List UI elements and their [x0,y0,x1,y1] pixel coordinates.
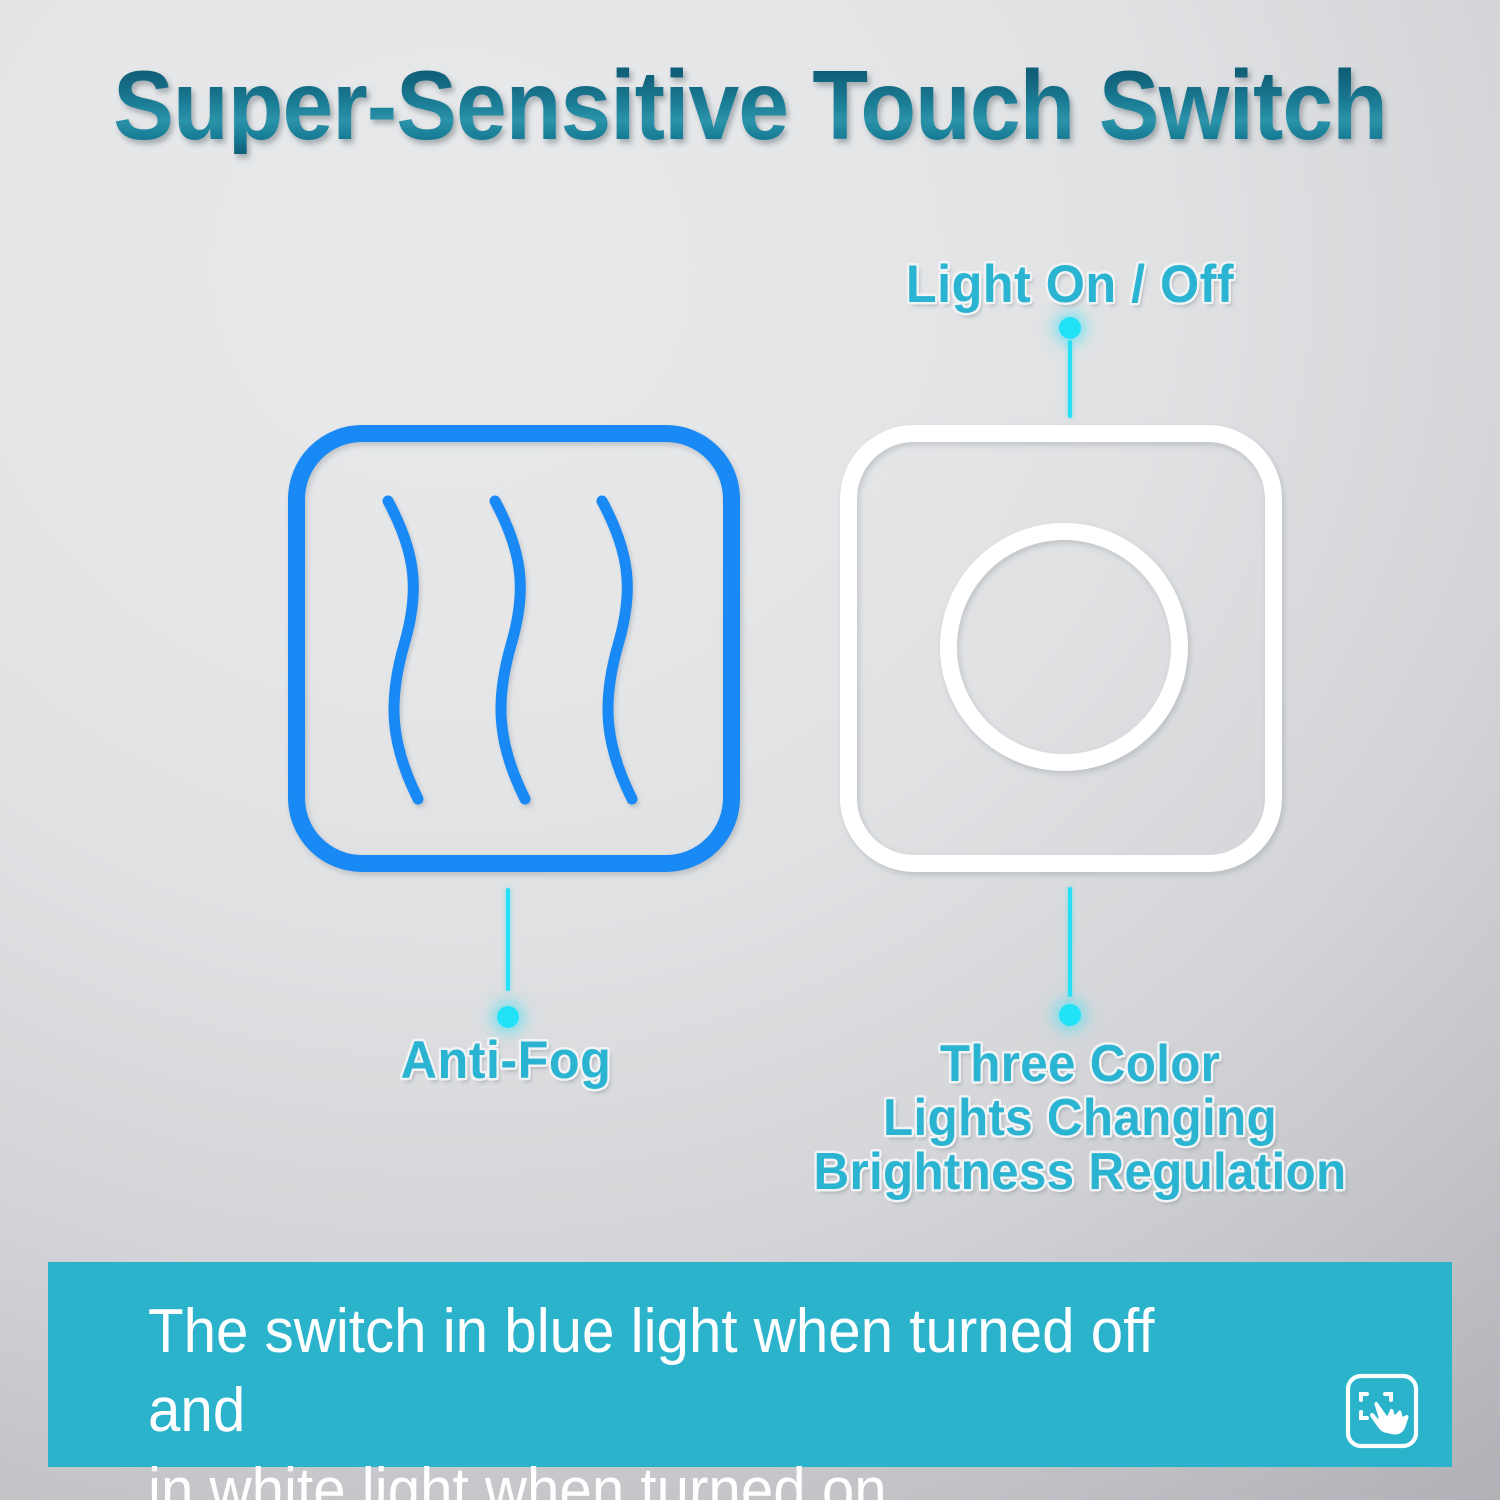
connector-dot-three-color [1059,1004,1081,1026]
banner-description-text: The switch in blue light when turned off… [148,1292,1229,1500]
page-title: Super-Sensitive Touch Switch [53,56,1448,154]
connector-line-three-color [1068,887,1072,997]
infographic-canvas: Super-Sensitive Touch Switch Light On / … [0,0,1500,1500]
connector-dot-anti-fog [497,1006,519,1028]
connector-dot-light-on-off [1059,317,1081,339]
callout-label-anti-fog: Anti-Fog [316,1034,696,1087]
callout-label-three-color: Three Color Lights Changing Brightness R… [786,1037,1375,1199]
bottom-banner: The switch in blue light when turned off… [48,1262,1452,1467]
connector-line-light-on-off [1068,340,1072,418]
touch-gesture-icon [1344,1373,1420,1449]
connector-line-anti-fog [506,888,510,991]
fog-waves-icon [370,495,650,805]
callout-label-light-on-off: Light On / Off [833,258,1308,311]
light-ring-icon [940,523,1188,771]
